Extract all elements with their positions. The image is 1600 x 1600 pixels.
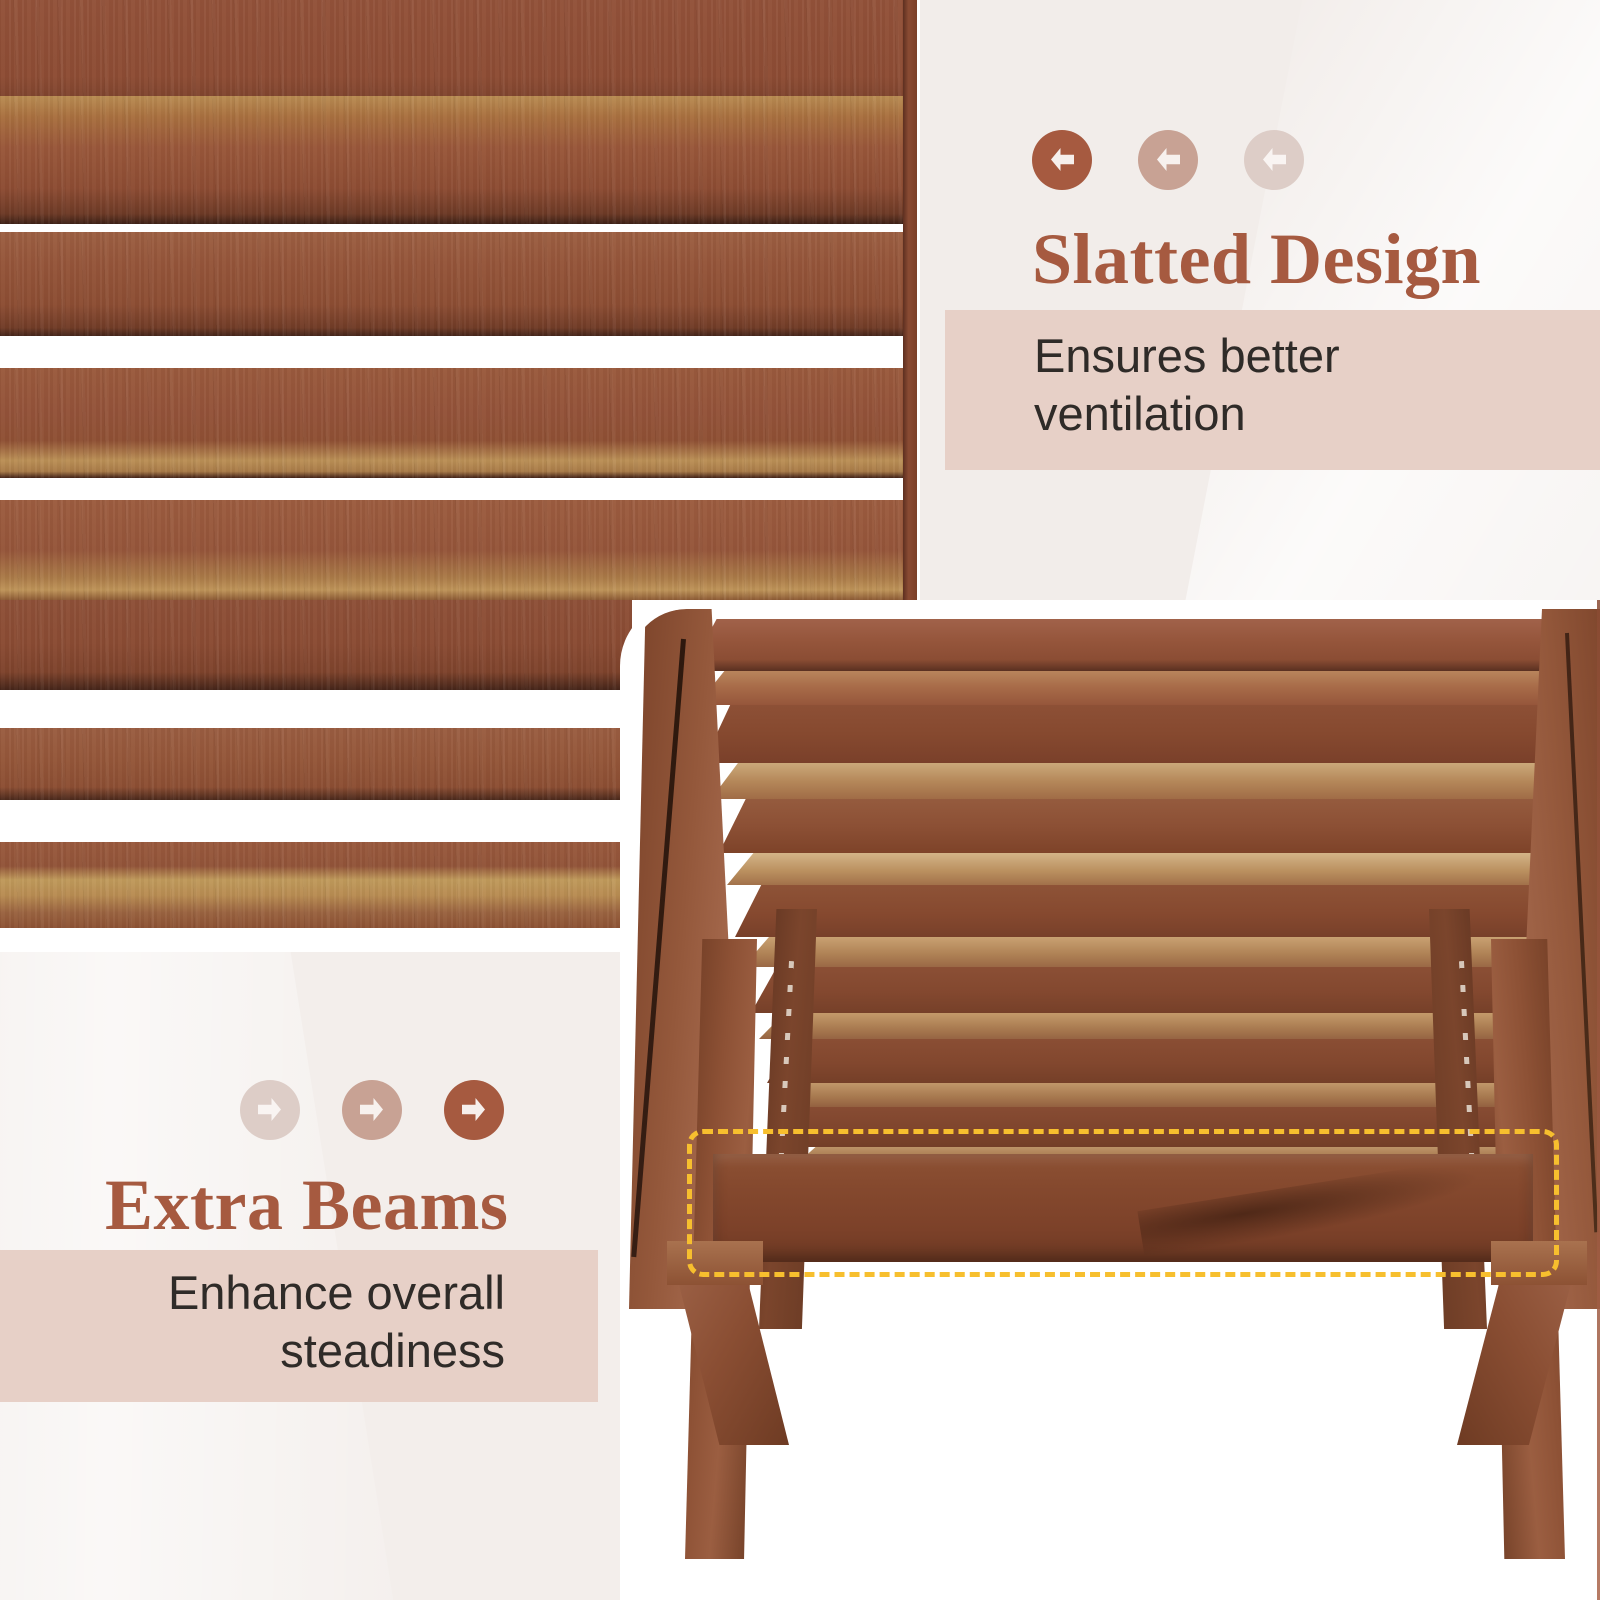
bench-backrest-slat: [727, 853, 1600, 885]
arrow-left-circle-icon: [1244, 130, 1304, 190]
bench-backrest-slat: [719, 799, 1600, 853]
infographic-canvas: Slatted Design Ensures better ventilatio…: [0, 0, 1600, 1600]
arrow-indicator-group-right: [240, 1080, 504, 1140]
wood-rail: [903, 0, 917, 600]
wood-slat: [0, 500, 908, 600]
arrow-right-circle-icon: [444, 1080, 504, 1140]
wood-slat: [0, 368, 908, 478]
bench-backrest-slat: [697, 671, 1600, 705]
arrow-right-circle-icon: [240, 1080, 300, 1140]
wood-slat: [0, 96, 908, 224]
wood-slat: [0, 842, 632, 928]
arrow-left-circle-icon: [1032, 130, 1092, 190]
feature-panel-extra-beams: Extra Beams Enhance overall steadiness: [0, 952, 640, 1600]
feature-title: Extra Beams: [105, 1164, 508, 1247]
wood-slat: [0, 728, 632, 800]
feature-panel-slatted-design: Slatted Design Ensures better ventilatio…: [920, 0, 1600, 600]
slat-closeup-top-photo: [0, 0, 920, 600]
feature-subtitle-line-2: steadiness: [155, 1320, 505, 1381]
bench-backrest-slat: [703, 705, 1600, 763]
feature-title: Slatted Design: [1032, 218, 1481, 301]
bench-backrest-slat: [689, 619, 1600, 671]
feature-subtitle-line-1: Ensures better: [1034, 325, 1340, 386]
cross-beam-callout-box: [687, 1129, 1559, 1277]
wood-slat: [0, 600, 632, 690]
arrow-right-circle-icon: [342, 1080, 402, 1140]
feature-subtitle-line-1: Enhance overall: [155, 1262, 505, 1323]
slat-closeup-bottom-photo: [0, 600, 640, 952]
wood-slat: [0, 232, 908, 336]
arrow-left-circle-icon: [1138, 130, 1198, 190]
feature-subtitle-line-2: ventilation: [1034, 383, 1246, 444]
arrow-indicator-group-left: [1032, 130, 1304, 190]
bench-backrest-slat: [711, 763, 1600, 799]
bench-rear-view-photo: [620, 600, 1600, 1600]
